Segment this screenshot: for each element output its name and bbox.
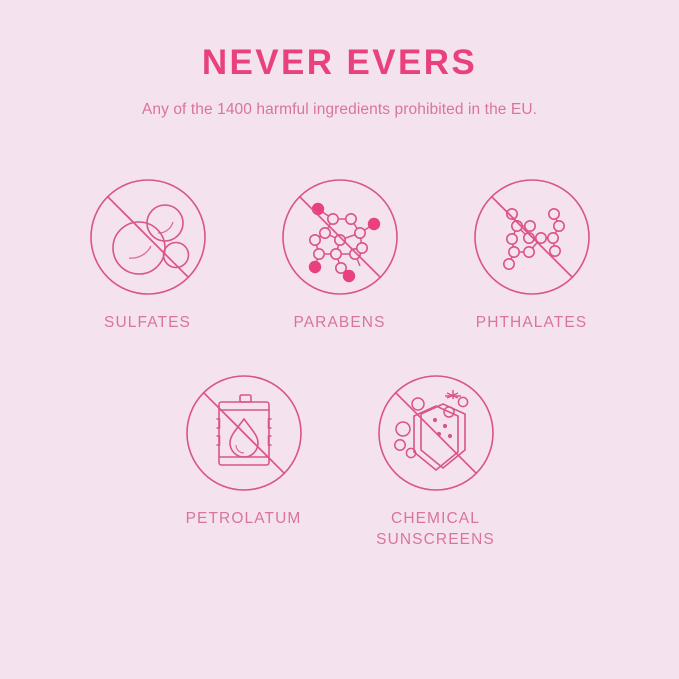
ingredient-item-parabens: PARABENS bbox=[244, 178, 436, 333]
no-petrolatum-drum-icon bbox=[185, 374, 303, 492]
ingredient-label: PHTHALATES bbox=[476, 313, 588, 333]
no-parabens-molecule-icon bbox=[281, 178, 399, 296]
ingredient-item-chemical-sunscreens: CHEMICAL SUNSCREENS bbox=[340, 374, 532, 550]
page-subtitle: Any of the 1400 harmful ingredients proh… bbox=[0, 101, 679, 119]
no-phthalates-molecule-icon bbox=[473, 178, 591, 296]
ingredient-label: SULFATES bbox=[104, 313, 191, 333]
ingredients-row-1: SULFATES bbox=[0, 178, 679, 333]
ingredient-label: PARABENS bbox=[293, 313, 385, 333]
ingredient-item-sulfates: SULFATES bbox=[52, 178, 244, 333]
poster-header: NEVER EVERS Any of the 1400 harmful ingr… bbox=[0, 0, 679, 119]
ingredient-item-petrolatum: PETROLATUM bbox=[148, 374, 340, 550]
ingredient-label: PETROLATUM bbox=[186, 509, 302, 529]
ingredient-item-phthalates: PHTHALATES bbox=[436, 178, 628, 333]
ingredients-row-2: PETROLATUM bbox=[0, 374, 679, 550]
no-sulfates-bubbles-icon bbox=[89, 178, 207, 296]
never-evers-poster: NEVER EVERS Any of the 1400 harmful ingr… bbox=[0, 0, 679, 679]
ingredient-label: CHEMICAL SUNSCREENS bbox=[376, 509, 495, 550]
no-chemical-sunscreens-bottle-icon bbox=[377, 374, 495, 492]
page-title: NEVER EVERS bbox=[0, 44, 679, 83]
ingredients-grid: SULFATES bbox=[0, 178, 679, 550]
